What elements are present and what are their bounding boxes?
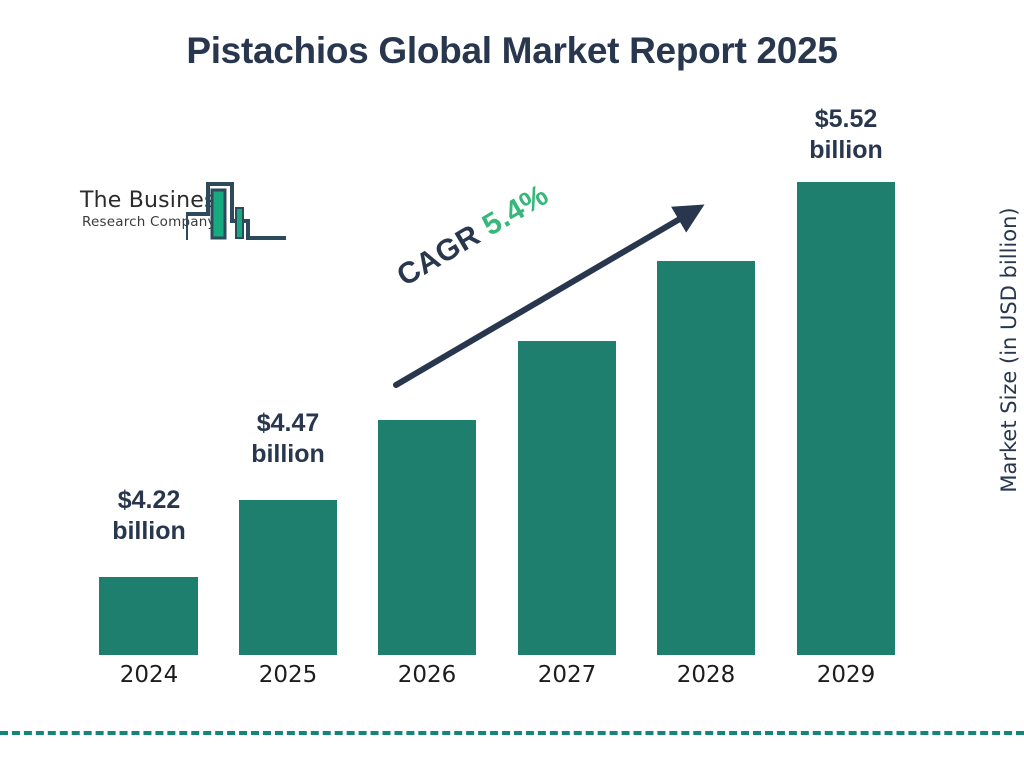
x-tick-2025: 2025 <box>218 662 358 688</box>
plot-area: $4.22 billion 2024 $4.47 billion 2025 20… <box>0 0 1024 768</box>
x-tick-2026: 2026 <box>357 662 497 688</box>
chart-canvas: Pistachios Global Market Report 2025 The… <box>0 0 1024 768</box>
bar-2024 <box>99 577 198 655</box>
x-tick-2027: 2027 <box>497 662 637 688</box>
bar-2026 <box>378 420 476 655</box>
x-tick-2029: 2029 <box>776 662 916 688</box>
y-axis-title: Market Size (in USD billion) <box>997 185 1024 515</box>
x-tick-2028: 2028 <box>636 662 776 688</box>
bar-value-label-2025: $4.47 billion <box>213 408 363 469</box>
bar-2028 <box>657 261 755 655</box>
x-tick-2024: 2024 <box>79 662 219 688</box>
footer-divider <box>0 731 1024 735</box>
bar-2027 <box>518 341 616 655</box>
bar-2029 <box>797 182 895 655</box>
bar-value-label-2029: $5.52 billion <box>771 104 921 165</box>
bar-value-label-2024: $4.22 billion <box>74 485 224 546</box>
bar-2025 <box>239 500 337 655</box>
